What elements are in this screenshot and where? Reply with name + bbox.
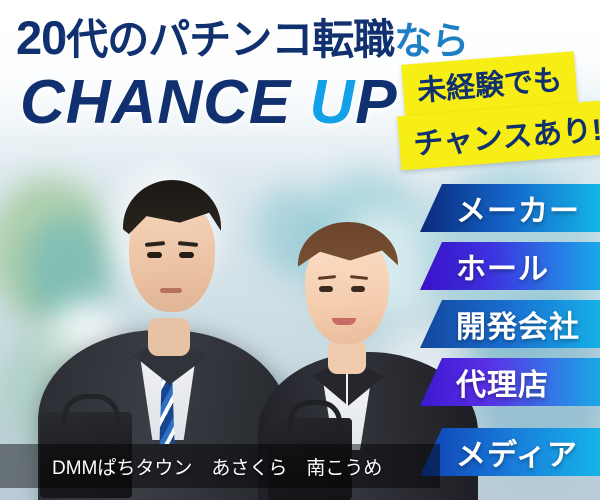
female-eye-right xyxy=(351,286,365,292)
headline-suffix: なら xyxy=(394,21,468,63)
female-eye-left xyxy=(319,286,333,292)
briefcase-left-handle xyxy=(62,394,120,429)
male-eye-right xyxy=(179,252,194,258)
category-button-maker[interactable]: メーカー xyxy=(420,184,600,232)
female-mouth xyxy=(332,318,356,325)
male-neck xyxy=(148,318,190,356)
logo-chance-word: CHANCE xyxy=(20,68,309,137)
headline-primary: 20代のパチンコ転職なら xyxy=(16,14,468,61)
logo-chance-up: CHANCE UP xyxy=(20,72,398,134)
category-button-agency[interactable]: 代理店 xyxy=(420,358,600,406)
credit-text: DMMぱちタウン あさくら 南こうめ xyxy=(52,453,382,480)
promo-banner: 20代のパチンコ転職なら CHANCE UP 未経験でも チャンスあり! メーカ… xyxy=(0,0,600,500)
category-label: 代理店 xyxy=(456,360,549,404)
category-button-development[interactable]: 開発会社 xyxy=(420,300,600,348)
headline-number: 20 xyxy=(16,11,66,64)
logo-u-letter: U xyxy=(309,68,355,137)
female-neck xyxy=(328,340,366,374)
category-label: メディア xyxy=(456,430,578,474)
credit-bar: DMMぱちタウン あさくら 南こうめ xyxy=(0,444,440,488)
category-button-media[interactable]: メディア xyxy=(420,428,600,476)
category-label: メーカー xyxy=(456,186,580,230)
logo-p-letter: P xyxy=(355,68,397,137)
category-label: 開発会社 xyxy=(456,302,580,346)
headline-text: 代のパチンコ転職 xyxy=(66,16,394,63)
male-mouth xyxy=(160,288,182,293)
category-button-hall[interactable]: ホール xyxy=(420,242,600,290)
male-eye-left xyxy=(147,252,162,258)
category-label: ホール xyxy=(456,244,549,288)
briefcase-right-handle xyxy=(288,400,342,433)
